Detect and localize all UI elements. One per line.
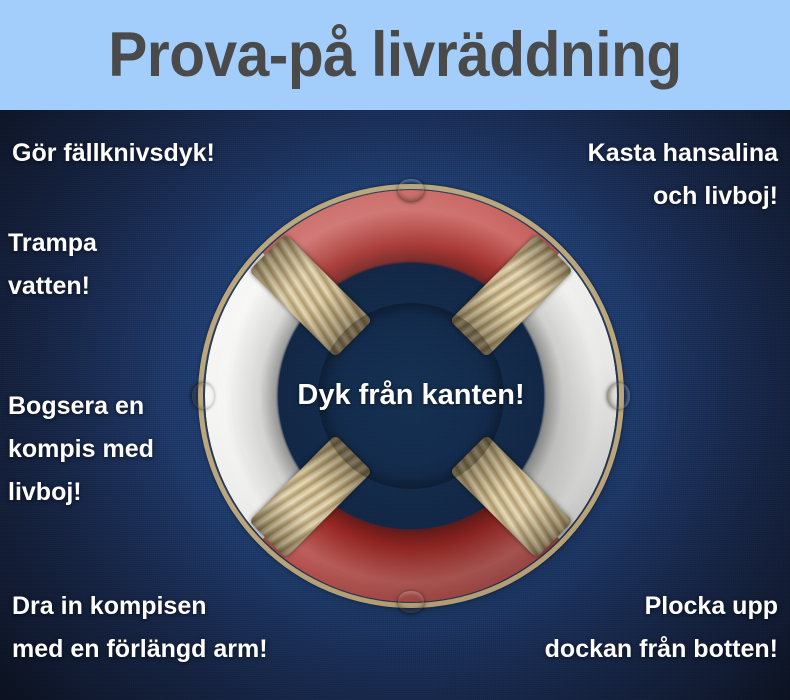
caption-top-left: Gör fällknivsdyk! xyxy=(12,132,215,175)
caption-bottom-right: Plocka upp dockan från botten! xyxy=(545,585,778,671)
page-title: Prova-på livräddning xyxy=(28,0,763,110)
caption-center: Dyk från kanten! xyxy=(296,369,526,423)
poster: Prova-på livräddning Dyk från kanten! Gö… xyxy=(0,0,790,700)
rope-knot-right xyxy=(608,383,630,409)
title-banner: Prova-på livräddning xyxy=(0,0,790,110)
rope-knot-left xyxy=(192,383,214,409)
life-ring-buoy: Dyk från kanten! xyxy=(205,190,617,602)
caption-top-right: Kasta hansalina och livboj! xyxy=(588,132,778,218)
rope-knot-top xyxy=(398,179,424,201)
rope-knot-bottom xyxy=(398,591,424,613)
photo-background: Dyk från kanten! Gör fällknivsdyk! Tramp… xyxy=(0,110,790,700)
caption-bottom-left: Dra in kompisen med en förlängd arm! xyxy=(12,585,268,671)
caption-mid-left: Trampa vatten! xyxy=(8,222,97,308)
caption-tow-left: Bogsera en kompis med livboj! xyxy=(8,385,154,514)
